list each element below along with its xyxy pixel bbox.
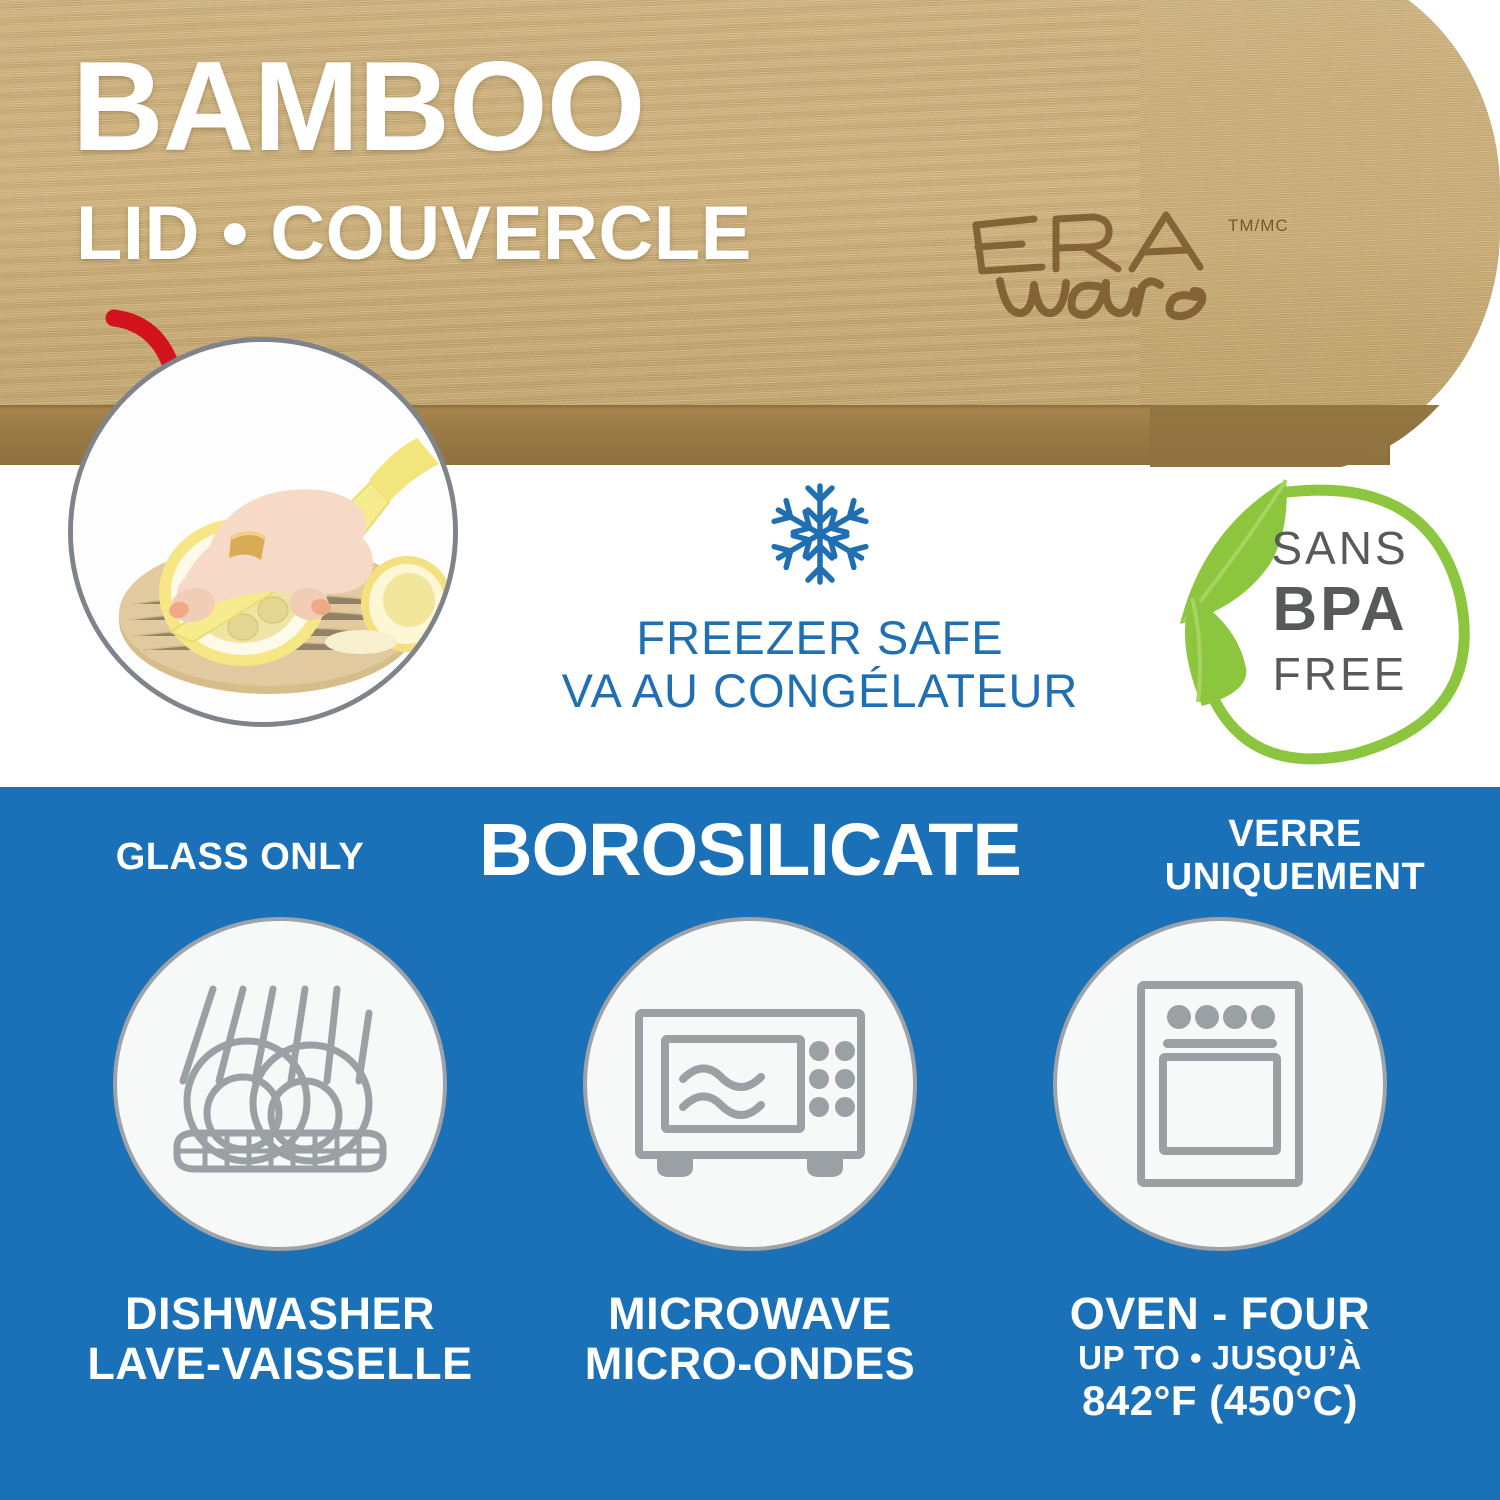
feature-row: DISHWASHER LAVE-VAISSELLE xyxy=(0,917,1500,1487)
bpa-line-free: FREE xyxy=(1273,648,1408,700)
oven-icon-circle xyxy=(1053,917,1387,1251)
freezer-label-fr: VA AU CONGÉLATEUR xyxy=(520,665,1120,718)
microwave-label-fr: MICRO-ONDES xyxy=(500,1339,1000,1389)
borosilicate-title: BOROSILICATE xyxy=(420,807,1080,892)
dishwasher-label-fr: LAVE-VAISSELLE xyxy=(30,1339,530,1389)
bpa-line-sans: SANS xyxy=(1271,522,1408,574)
oven-icon xyxy=(1087,951,1353,1217)
microwave-label-en: MICROWAVE xyxy=(500,1289,1000,1339)
page-title: BAMBOO xyxy=(72,42,645,172)
oven-temperature-label: 842°F (450°C) xyxy=(970,1377,1470,1426)
snowflake-icon xyxy=(764,478,876,590)
era-ware-logo-icon: TM/MC xyxy=(960,205,1310,335)
verre-line-2: UNIQUEMENT xyxy=(1100,856,1490,899)
borosilicate-section: GLASS ONLY BOROSILICATE VERRE UNIQUEMENT xyxy=(0,787,1500,1500)
trademark-label: TM/MC xyxy=(1228,216,1289,235)
feature-microwave: MICROWAVE MICRO-ONDES xyxy=(500,917,1000,1388)
bpa-free-badge: SANS BPA FREE xyxy=(1168,468,1488,778)
microwave-icon-circle xyxy=(583,917,917,1251)
oven-caption: OVEN - FOUR UP TO • JUSQU’À 842°F (450°C… xyxy=(970,1289,1470,1425)
oven-label: OVEN - FOUR xyxy=(970,1289,1470,1339)
microwave-icon xyxy=(617,951,883,1217)
verre-uniquement-label: VERRE UNIQUEMENT xyxy=(1100,813,1490,898)
bamboo-hero-section: BAMBOO LID • COUVERCLE xyxy=(0,0,1500,787)
dishwasher-caption: DISHWASHER LAVE-VAISSELLE xyxy=(30,1289,530,1388)
feature-dishwasher: DISHWASHER LAVE-VAISSELLE xyxy=(30,917,530,1388)
feature-oven: OVEN - FOUR UP TO • JUSQU’À 842°F (450°C… xyxy=(970,917,1470,1425)
dishwasher-icon-circle xyxy=(113,917,447,1251)
bpa-line-bpa: BPA xyxy=(1272,575,1407,644)
microwave-caption: MICROWAVE MICRO-ONDES xyxy=(500,1289,1000,1388)
dishwasher-icon xyxy=(147,951,413,1217)
product-infographic: BAMBOO LID • COUVERCLE xyxy=(0,0,1500,1500)
oven-upto-label: UP TO • JUSQU’À xyxy=(970,1339,1470,1377)
freezer-label-en: FREEZER SAFE xyxy=(520,612,1120,665)
glass-only-label: GLASS ONLY xyxy=(75,836,405,879)
verre-line-1: VERRE xyxy=(1100,813,1490,856)
lemon-cutting-illustration xyxy=(73,342,453,722)
freezer-safe-block: FREEZER SAFE VA AU CONGÉLATEUR xyxy=(520,478,1120,717)
brand-logo: TM/MC xyxy=(960,205,1310,335)
bamboo-board-edge-corner xyxy=(1150,405,1500,467)
lemon-cutting-photo-inset xyxy=(68,337,458,727)
page-subtitle: LID • COUVERCLE xyxy=(76,196,752,272)
bpa-free-badge-icon: SANS BPA FREE xyxy=(1168,468,1488,778)
dishwasher-label-en: DISHWASHER xyxy=(30,1289,530,1339)
